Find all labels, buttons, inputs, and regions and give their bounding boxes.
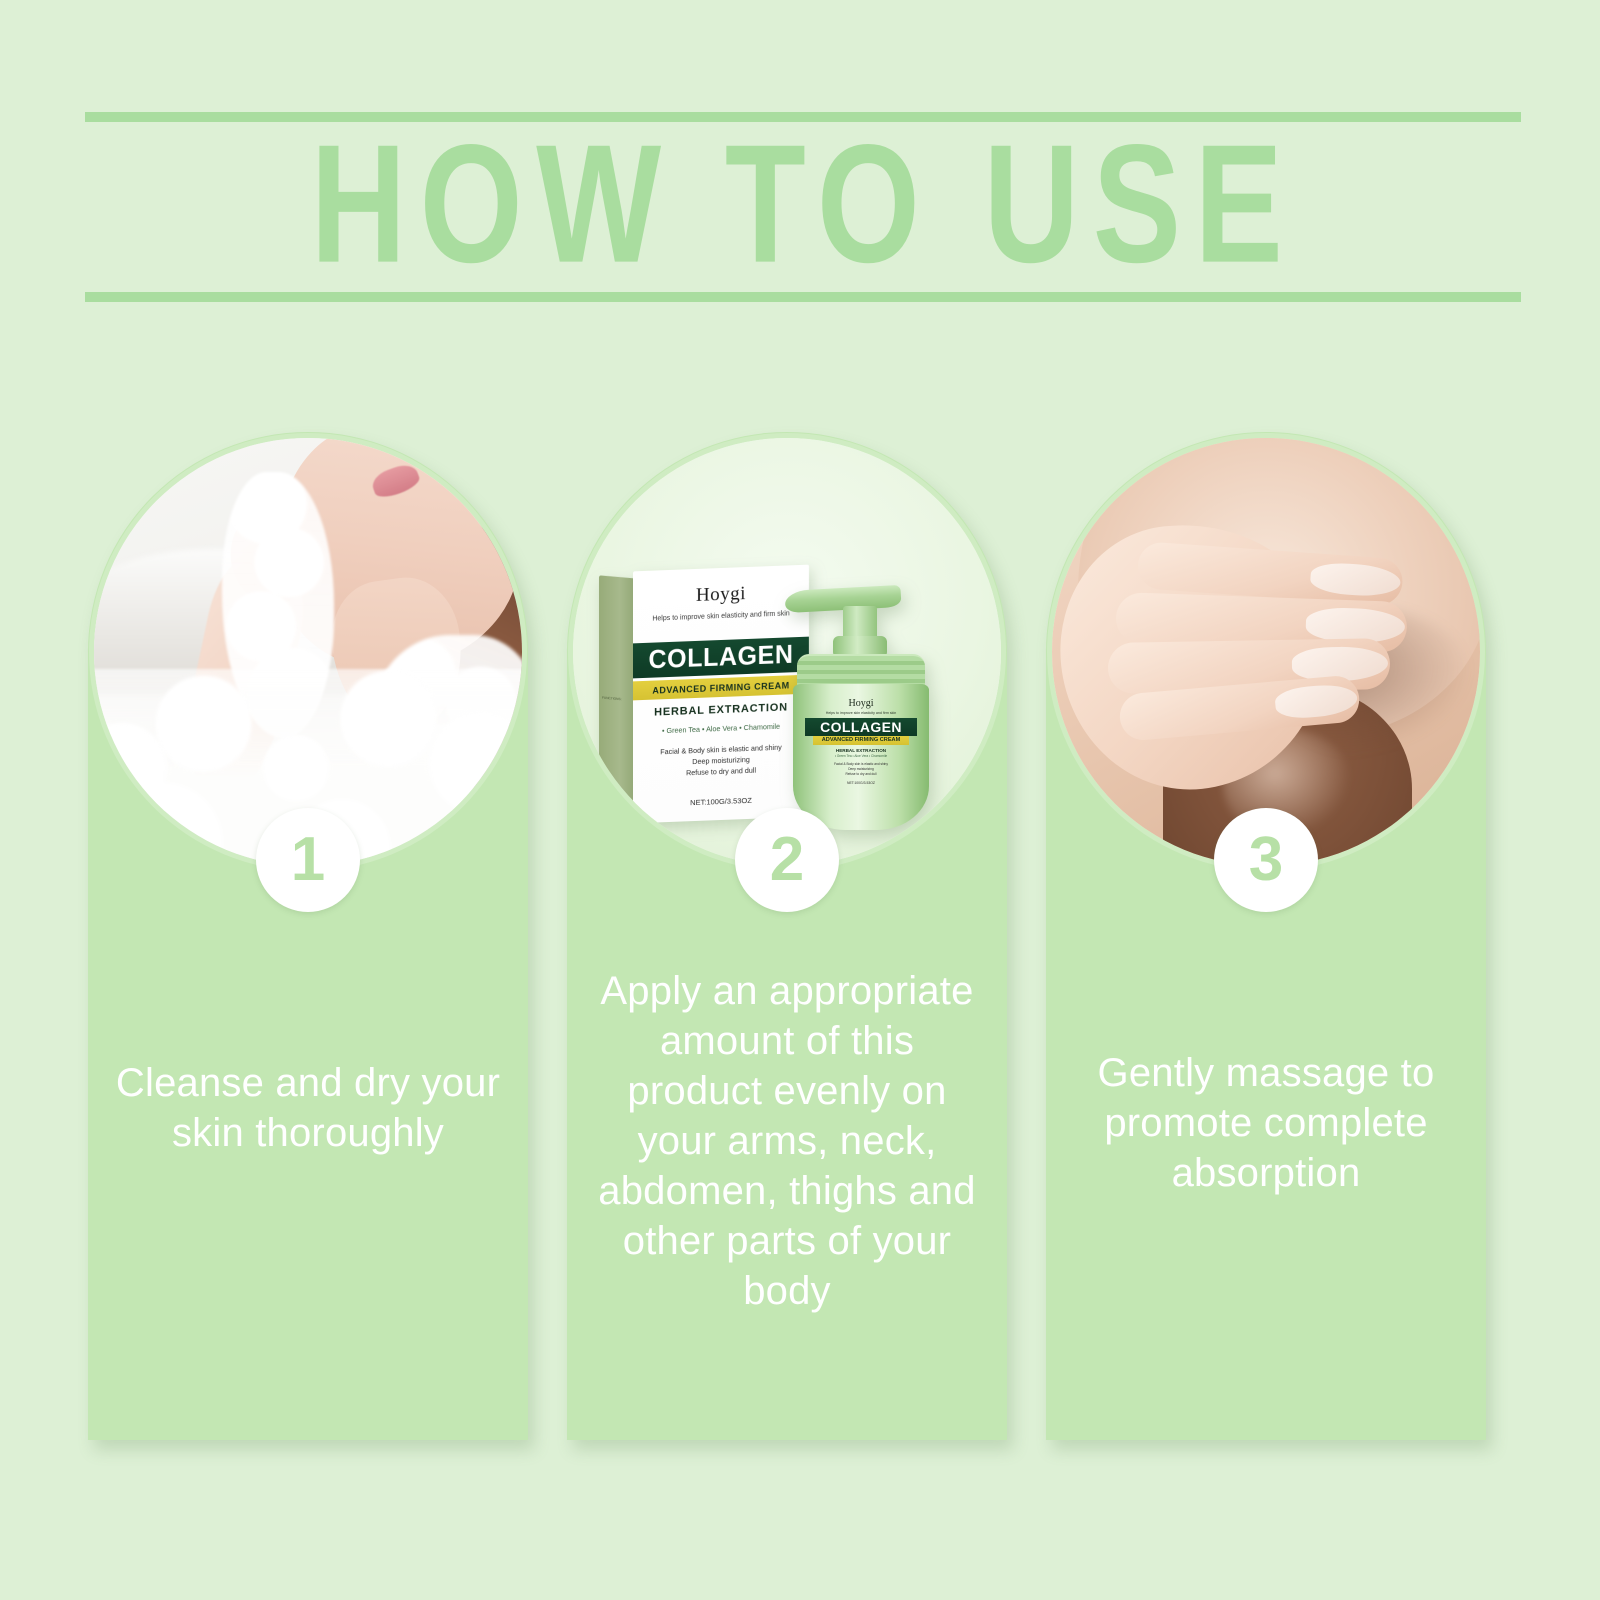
carton-side-text: FUNCTIONS: (602, 696, 634, 703)
carton-net-weight: NET:100G/3.53OZ (633, 794, 809, 810)
pump-neck (843, 606, 877, 640)
jar-body: Hoygi Helps to improve skin elasticity a… (793, 684, 929, 830)
jar-subtitle: ADVANCED FIRMING CREAM (813, 736, 909, 745)
carton-benefits: Facial & Body skin is elastic and shiny … (633, 741, 809, 781)
carton-extraction: HERBAL EXTRACTION (633, 701, 809, 720)
product-jar: Hoygi Helps to improve skin elasticity a… (791, 588, 931, 830)
carton-tagline: Helps to improve skin elasticity and fir… (633, 609, 809, 626)
jar-label: Hoygi Helps to improve skin elasticity a… (803, 698, 919, 804)
jar-product-name: COLLAGEN (805, 718, 917, 736)
page-title-text: HOW TO USE (310, 120, 1296, 288)
product-carton: FUNCTIONS: Hoygi Helps to improve skin e… (633, 565, 809, 824)
product-stage: FUNCTIONS: Hoygi Helps to improve skin e… (573, 438, 1001, 866)
step-card-3[interactable]: 3 Gently massage to promote complete abs… (1046, 432, 1486, 1440)
jar-tagline: Helps to improve skin elasticity and fir… (803, 710, 919, 716)
jar-benefits: Facial & Body skin is elastic and shiny … (803, 762, 919, 777)
step-2-number-badge: 2 (735, 808, 839, 912)
step-2-photo: FUNCTIONS: Hoygi Helps to improve skin e… (573, 438, 1001, 866)
page-title: HOW TO USE (85, 135, 1521, 273)
hand-massaging-shoulder-photo (1052, 438, 1480, 866)
carton-brand: Hoygi (633, 581, 809, 610)
carton-name-band: COLLAGEN (633, 637, 809, 679)
fingernail-4 (1275, 682, 1359, 720)
fingernail-1 (1309, 560, 1401, 597)
jar-net-weight: NET:100G/3.53OZ (803, 781, 919, 785)
page-header: HOW TO USE (85, 112, 1521, 302)
step-card-2[interactable]: FUNCTIONS: Hoygi Helps to improve skin e… (567, 432, 1007, 1440)
carton-subtitle-band: ADVANCED FIRMING CREAM (633, 675, 809, 701)
woman-in-bubble-bath-photo (94, 438, 522, 866)
step-card-1[interactable]: 1 Cleanse and dry your skin thoroughly (88, 432, 528, 1440)
step-1-number: 1 (291, 829, 325, 891)
step-3-number: 3 (1249, 829, 1283, 891)
collagen-cream-product-photo: FUNCTIONS: Hoygi Helps to improve skin e… (573, 438, 1001, 866)
step-1-photo (94, 438, 522, 866)
step-1-caption: Cleanse and dry your skin thoroughly (114, 1058, 502, 1158)
jar-brand: Hoygi (803, 698, 919, 710)
step-3-caption: Gently massage to promote complete absor… (1072, 1048, 1460, 1198)
step-3-photo (1052, 438, 1480, 866)
carton-subtitle: ADVANCED FIRMING CREAM (652, 680, 789, 695)
carton-front-panel: Hoygi Helps to improve skin elasticity a… (633, 565, 809, 824)
title-rule-bottom (85, 292, 1521, 302)
step-1-number-badge: 1 (256, 808, 360, 912)
carton-product-name: COLLAGEN (648, 639, 793, 675)
carton-side-panel: FUNCTIONS: (599, 575, 637, 828)
step-2-caption: Apply an appropriate amount of this prod… (593, 966, 981, 1316)
jar-benefit-3: Refuse to dry and dull (803, 772, 919, 777)
carton-ingredients: • Green Tea • Aloe Vera • Chamomile (633, 721, 809, 737)
step-3-number-badge: 3 (1214, 808, 1318, 912)
jar-ingredients: • Green Tea • Aloe Vera • Chamomile (803, 753, 919, 759)
step-2-number: 2 (770, 829, 804, 891)
steps-row: 1 Cleanse and dry your skin thoroughly F… (88, 432, 1498, 1442)
